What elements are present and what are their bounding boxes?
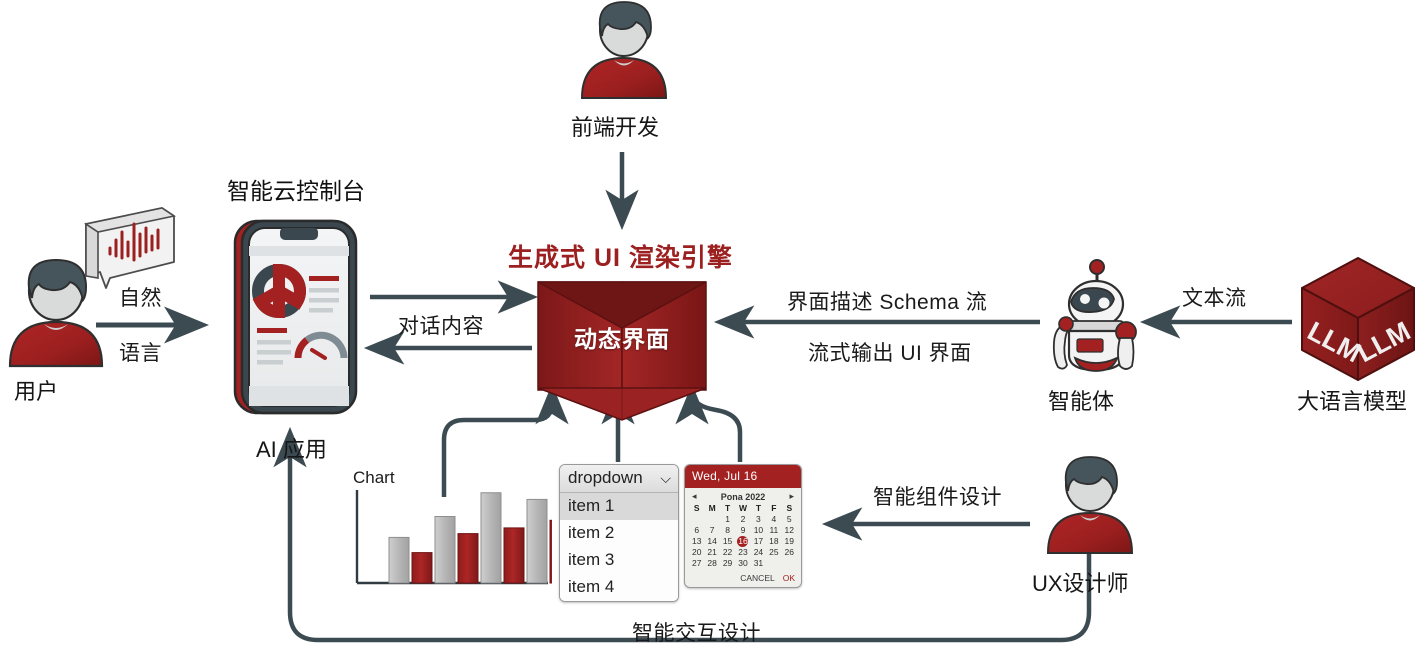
dropdown-item-2[interactable]: item 2	[560, 520, 678, 547]
smartphone-dashboard-icon[interactable]	[232, 218, 362, 418]
phone-caption: AI 应用	[256, 432, 327, 464]
bar-gray-4	[527, 499, 547, 583]
edge-label-component-design: 智能组件设计	[873, 481, 1002, 511]
connector-chart-to-engine	[444, 392, 552, 497]
calendar-widget[interactable]: Wed, Jul 16 ◂ Pona 2022 ▸ SMTWTFS 123456…	[684, 464, 802, 588]
agent-caption: 智能体	[1048, 384, 1114, 416]
calendar-dow-cell: T	[751, 503, 766, 514]
dropdown-header[interactable]: dropdown ⌵	[560, 465, 678, 493]
dropdown-item-3[interactable]: item 3	[560, 547, 678, 574]
ux-designer-caption: UX设计师	[1032, 566, 1129, 598]
calendar-nav: ◂ Pona 2022 ▸	[689, 491, 797, 503]
calendar-day-cell[interactable]: 2	[735, 514, 750, 525]
voice-waveform-bubble-icon	[70, 202, 180, 292]
calendar-day-cell[interactable]: 27	[689, 558, 704, 569]
edge-label-dialog-content: 对话内容	[398, 310, 484, 340]
edge-label-language: 语言	[119, 337, 162, 367]
calendar-prev-icon[interactable]: ◂	[692, 491, 697, 502]
engine-box-label: 动态界面	[538, 320, 706, 354]
user-caption: 用户	[14, 374, 58, 406]
calendar-day-cell[interactable]: 20	[689, 547, 704, 558]
calendar-dow-cell: T	[720, 503, 735, 514]
calendar-day-empty	[766, 558, 781, 569]
calendar-day-empty	[782, 558, 797, 569]
calendar-days-grid[interactable]: 1234567891011121314151617181920212223242…	[689, 514, 797, 569]
page-title: 生成式 UI 渲染引擎	[508, 238, 733, 274]
llm-caption: 大语言模型	[1297, 384, 1407, 416]
frontend-dev-caption: 前端开发	[571, 110, 659, 142]
bar-gray-2	[435, 517, 455, 584]
calendar-day-cell[interactable]: 5	[782, 514, 797, 525]
calendar-day-empty	[704, 514, 719, 525]
edge-label-interaction-design: 智能交互设计	[632, 617, 761, 647]
calendar-day-cell[interactable]: 28	[704, 558, 719, 569]
calendar-next-icon[interactable]: ▸	[789, 491, 794, 502]
dropdown-header-label: dropdown	[568, 468, 643, 488]
calendar-day-cell[interactable]: 15	[720, 536, 735, 547]
calendar-dow-cell: S	[689, 503, 704, 514]
calendar-day-cell[interactable]: 19	[782, 536, 797, 547]
person-avatar-icon-ux	[1044, 455, 1136, 555]
bar-red-1	[412, 553, 432, 583]
robot-icon	[1046, 258, 1146, 378]
person-avatar-icon-frontend	[578, 0, 670, 100]
calendar-day-cell[interactable]: 26	[782, 547, 797, 558]
calendar-day-cell[interactable]: 14	[704, 536, 719, 547]
calendar-day-cell[interactable]: 11	[766, 525, 781, 536]
calendar-day-cell[interactable]: 9	[735, 525, 750, 536]
chart-bars	[389, 493, 552, 583]
chevron-down-icon: ⌵	[660, 470, 671, 487]
connector-calendar-to-engine	[692, 392, 740, 462]
bar-red-4	[550, 520, 552, 583]
edge-label-text-stream: 文本流	[1182, 282, 1247, 312]
diagram-canvas: 用户 自然 语言 智能云控制台	[0, 0, 1424, 658]
calendar-day-cell[interactable]: 17	[751, 536, 766, 547]
calendar-day-cell[interactable]: 29	[720, 558, 735, 569]
calendar-day-cell[interactable]: 3	[751, 514, 766, 525]
calendar-day-cell[interactable]: 8	[720, 525, 735, 536]
cube-llm-icon: LLM LLM	[1296, 254, 1420, 384]
bar-gray-3	[481, 493, 501, 583]
edge-label-schema-stream: 界面描述 Schema 流	[787, 286, 987, 316]
calendar-month-label: Pona 2022	[721, 492, 766, 502]
calendar-day-cell[interactable]: 30	[735, 558, 750, 569]
calendar-body: ◂ Pona 2022 ▸ SMTWTFS 123456789101112131…	[685, 488, 801, 571]
dropdown-item-1[interactable]: item 1	[560, 493, 678, 520]
edge-label-natural: 自然	[119, 282, 162, 312]
calendar-day-cell[interactable]: 25	[766, 547, 781, 558]
calendar-dow-cell: S	[782, 503, 797, 514]
calendar-day-cell[interactable]: 18	[766, 536, 781, 547]
calendar-day-cell[interactable]: 7	[704, 525, 719, 536]
calendar-day-cell[interactable]: 1	[720, 514, 735, 525]
calendar-dow-cell: F	[766, 503, 781, 514]
bar-chart-widget[interactable]	[352, 488, 552, 593]
bar-gray-1	[389, 537, 409, 583]
calendar-ok-button[interactable]: OK	[783, 573, 795, 583]
calendar-dow-row: SMTWTFS	[689, 503, 797, 514]
dropdown-widget[interactable]: dropdown ⌵ item 1 item 2 item 3 item 4	[559, 464, 679, 602]
calendar-day-cell[interactable]: 16	[737, 536, 748, 547]
calendar-day-cell[interactable]: 6	[689, 525, 704, 536]
calendar-day-cell[interactable]: 12	[782, 525, 797, 536]
calendar-day-empty	[689, 514, 704, 525]
calendar-day-cell[interactable]: 22	[720, 547, 735, 558]
calendar-footer: CANCEL OK	[685, 571, 801, 587]
phone-title: 智能云控制台	[227, 172, 365, 206]
calendar-day-cell[interactable]: 24	[751, 547, 766, 558]
calendar-dow-cell: W	[735, 503, 750, 514]
calendar-day-cell[interactable]: 23	[735, 547, 750, 558]
bar-red-2	[458, 534, 478, 583]
calendar-day-cell[interactable]: 21	[704, 547, 719, 558]
calendar-header: Wed, Jul 16	[685, 465, 801, 488]
bar-red-3	[504, 528, 524, 583]
chart-title: Chart	[353, 468, 395, 488]
dropdown-item-4[interactable]: item 4	[560, 574, 678, 601]
calendar-dow-cell: M	[704, 503, 719, 514]
calendar-day-cell[interactable]: 13	[689, 536, 704, 547]
calendar-day-cell[interactable]: 4	[766, 514, 781, 525]
calendar-day-cell[interactable]: 10	[751, 525, 766, 536]
edge-label-stream-ui: 流式输出 UI 界面	[808, 337, 972, 367]
calendar-cancel-button[interactable]: CANCEL	[740, 573, 774, 583]
calendar-day-cell[interactable]: 31	[751, 558, 766, 569]
